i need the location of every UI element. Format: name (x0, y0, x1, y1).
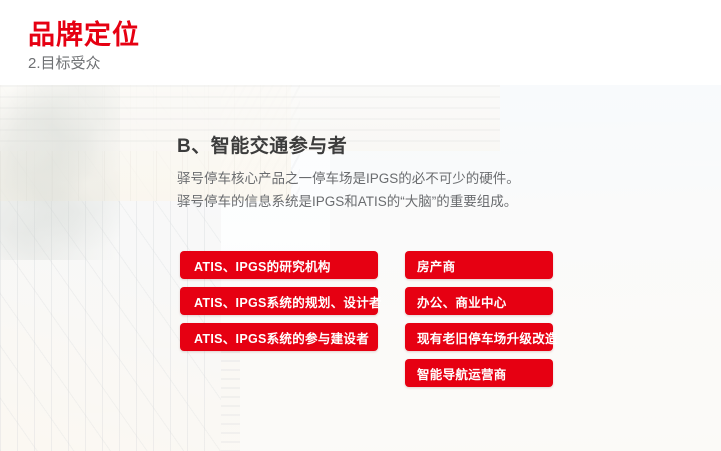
page-subtitle: 2.目标受众 (28, 56, 101, 71)
tag-item[interactable]: 现有老旧停车场升级改造 (405, 323, 553, 351)
header-band: 品牌定位 2.目标受众 (0, 0, 721, 85)
tag-column-right: 房产商 办公、商业中心 现有老旧停车场升级改造 智能导航运营商 (405, 251, 553, 387)
section-heading: B、智能交通参与者 (177, 131, 347, 158)
tag-item[interactable]: 智能导航运营商 (405, 359, 553, 387)
tag-item[interactable]: 办公、商业中心 (405, 287, 553, 315)
paragraph-line: 驿号停车的信息系统是IPGS和ATIS的“大脑”的重要组成。 (177, 190, 597, 213)
main-content: B、智能交通参与者 驿号停车核心产品之一停车场是IPGS的必不可少的硬件。 驿号… (0, 85, 721, 451)
paragraph-line: 驿号停车核心产品之一停车场是IPGS的必不可少的硬件。 (177, 167, 597, 190)
tag-item[interactable]: 房产商 (405, 251, 553, 279)
slide-root: 品牌定位 2.目标受众 B、智能交通参与者 驿号停车核心产品之一停车场是IPGS… (0, 0, 721, 451)
page-title: 品牌定位 (28, 22, 140, 49)
tag-item[interactable]: ATIS、IPGS系统的参与建设者 (180, 323, 378, 351)
tag-column-left: ATIS、IPGS的研究机构 ATIS、IPGS系统的规划、设计者 ATIS、I… (180, 251, 378, 351)
body-paragraph: 驿号停车核心产品之一停车场是IPGS的必不可少的硬件。 驿号停车的信息系统是IP… (177, 167, 597, 213)
tag-item[interactable]: ATIS、IPGS的研究机构 (180, 251, 378, 279)
tag-item[interactable]: ATIS、IPGS系统的规划、设计者 (180, 287, 378, 315)
